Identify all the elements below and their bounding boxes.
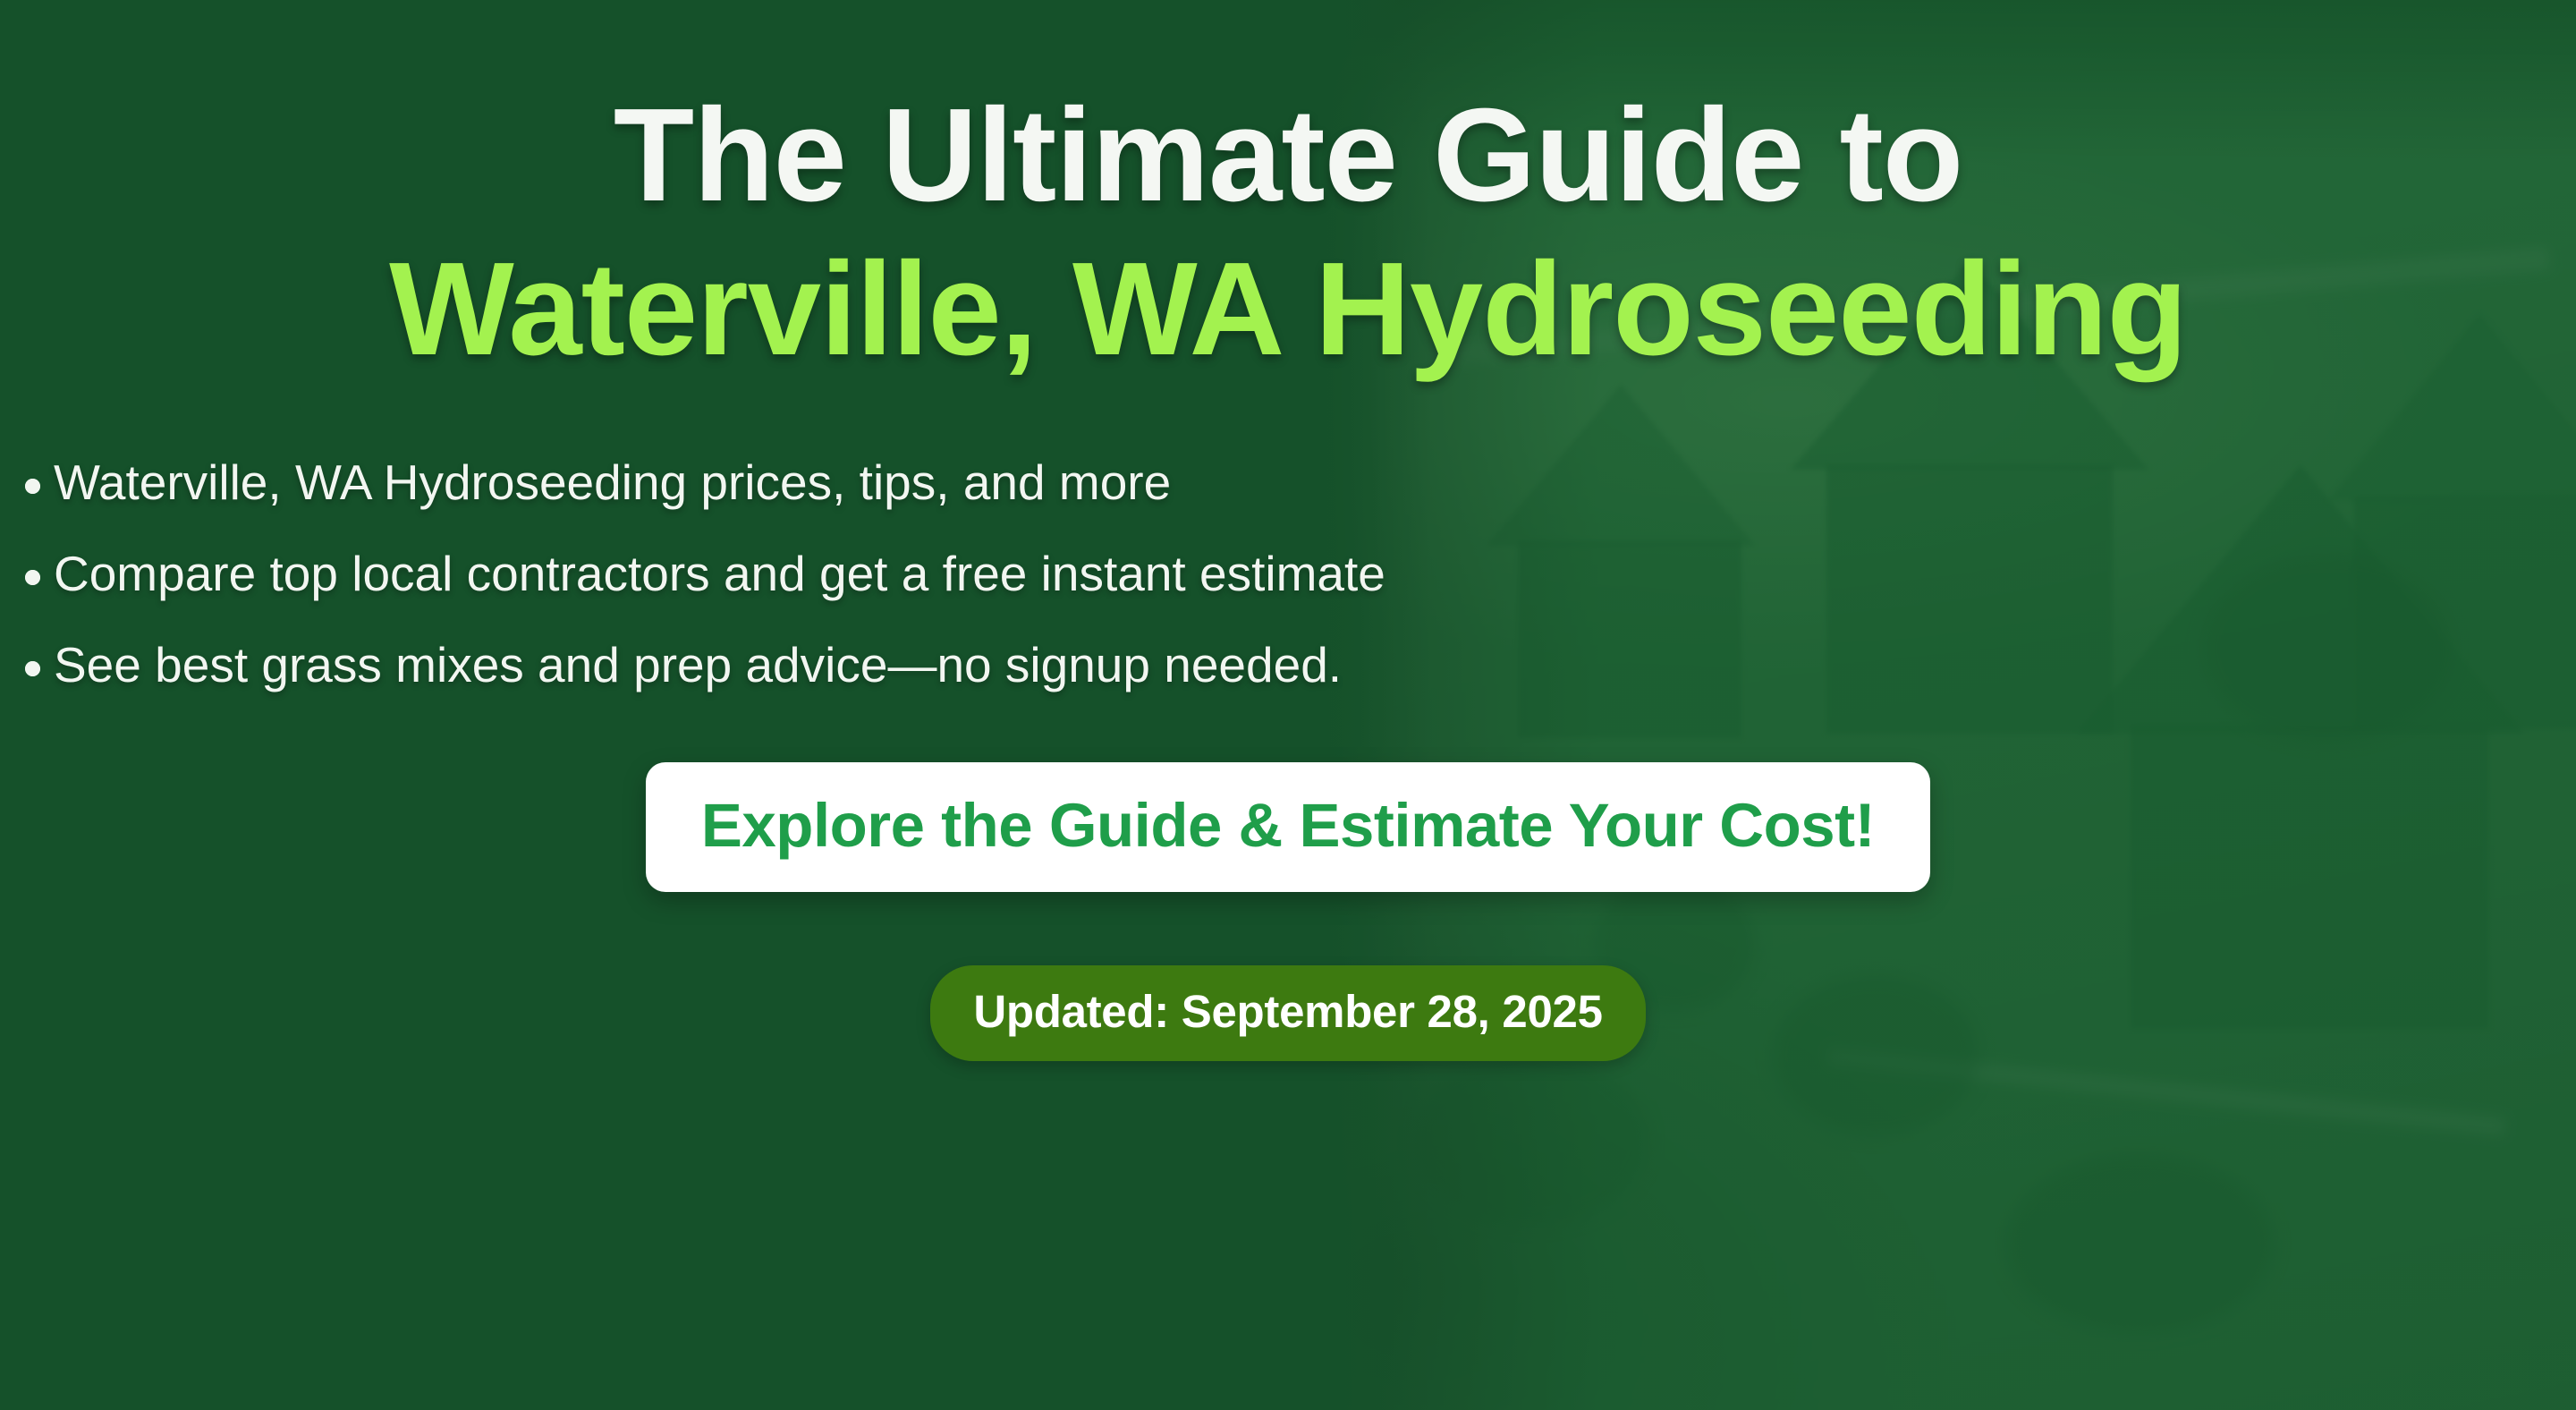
list-item-label: Compare top local contractors and get a … <box>54 546 1385 601</box>
page-title-line1: The Ultimate Guide to <box>614 89 1962 222</box>
explore-guide-cta-button[interactable]: Explore the Guide & Estimate Your Cost! <box>646 762 1930 892</box>
list-item: Waterville, WA Hydroseeding prices, tips… <box>0 458 2576 507</box>
benefits-list: Waterville, WA Hydroseeding prices, tips… <box>0 458 2576 732</box>
bullet-dot-icon <box>25 661 40 676</box>
list-item-content: See best grass mixes and prep advice—no … <box>0 641 1342 690</box>
last-updated-badge: Updated: September 28, 2025 <box>930 965 1645 1061</box>
bullet-dot-icon <box>25 479 40 494</box>
hero-content: The Ultimate Guide to Waterville, WA Hyd… <box>0 0 2576 1410</box>
list-item: Compare top local contractors and get a … <box>0 549 2576 599</box>
page-title-line2: Waterville, WA Hydroseeding <box>389 243 2187 376</box>
bullet-dot-icon <box>25 570 40 585</box>
list-item-content: Waterville, WA Hydroseeding prices, tips… <box>0 458 1171 507</box>
list-item: See best grass mixes and prep advice—no … <box>0 641 2576 690</box>
list-item-label: See best grass mixes and prep advice—no … <box>54 637 1342 692</box>
list-item-content: Compare top local contractors and get a … <box>0 549 1385 599</box>
hero-banner: The Ultimate Guide to Waterville, WA Hyd… <box>0 0 2576 1410</box>
list-item-label: Waterville, WA Hydroseeding prices, tips… <box>54 454 1171 510</box>
